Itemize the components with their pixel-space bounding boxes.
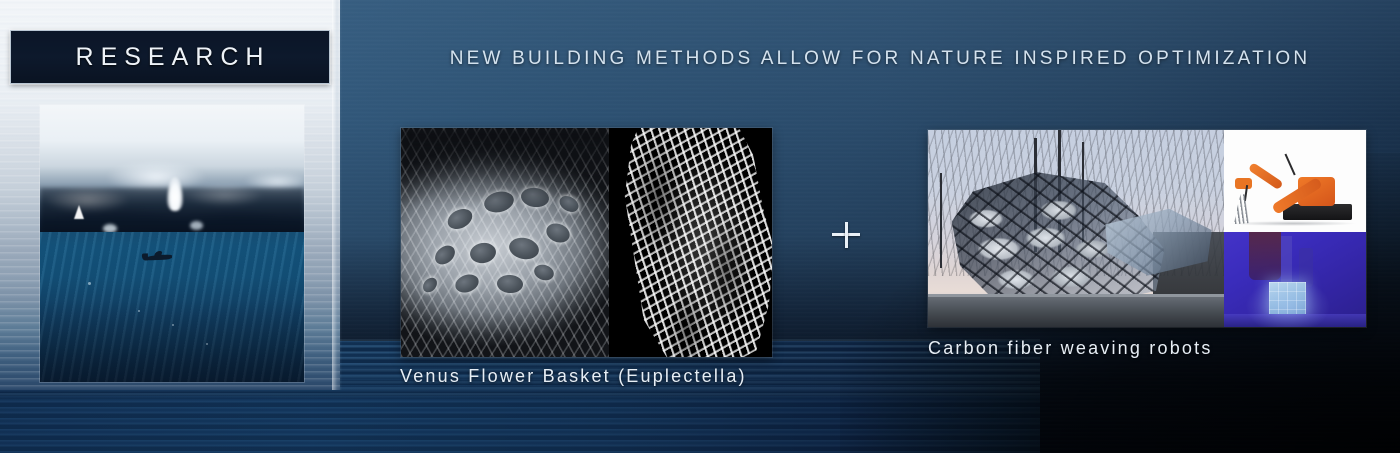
venus-top-shadow <box>401 128 609 206</box>
section-badge-label: RESEARCH <box>70 43 271 72</box>
slide-heading: NEW BUILDING METHODS ALLOW FOR NATURE IN… <box>440 48 1320 70</box>
venus-skeleton-on-black <box>609 128 772 357</box>
figure-caption-robots: Carbon fiber weaving robots <box>928 338 1213 359</box>
robot-arm-base <box>1283 204 1351 220</box>
slide-canvas: RESEARCH NEW BUILDING METHODS ALLOW FOR … <box>0 0 1400 453</box>
fabrication-glow <box>1224 232 1366 327</box>
left-panel-edge <box>332 0 342 390</box>
pavilion-ground <box>928 294 1224 327</box>
carbon-fiber-pavilion-photo <box>928 130 1224 327</box>
hero-image-ocean <box>40 105 304 382</box>
pavilion-rail <box>928 294 1224 297</box>
tree-trunk <box>940 173 942 268</box>
section-badge: RESEARCH <box>10 30 330 84</box>
robot-arm-cable <box>1285 153 1296 174</box>
figure-caption-venus: Venus Flower Basket (Euplectella) <box>400 366 747 387</box>
figure-carbon-fiber-robots <box>928 130 1366 327</box>
robots-right-column <box>1224 130 1366 327</box>
orange-robot-arm-photo <box>1224 130 1366 232</box>
robot-arm-segment-2 <box>1247 162 1283 190</box>
plus-icon <box>832 222 860 248</box>
woven-fiber-specimen <box>1231 194 1254 225</box>
ocean-bottom-shade <box>40 105 304 382</box>
robot-arm-end-effector <box>1235 178 1252 189</box>
blue-lit-fabrication-photo <box>1224 232 1366 327</box>
venus-sponge-shading <box>609 128 772 357</box>
venus-lattice-closeup <box>401 128 609 357</box>
figure-venus-flower-basket <box>401 128 772 357</box>
